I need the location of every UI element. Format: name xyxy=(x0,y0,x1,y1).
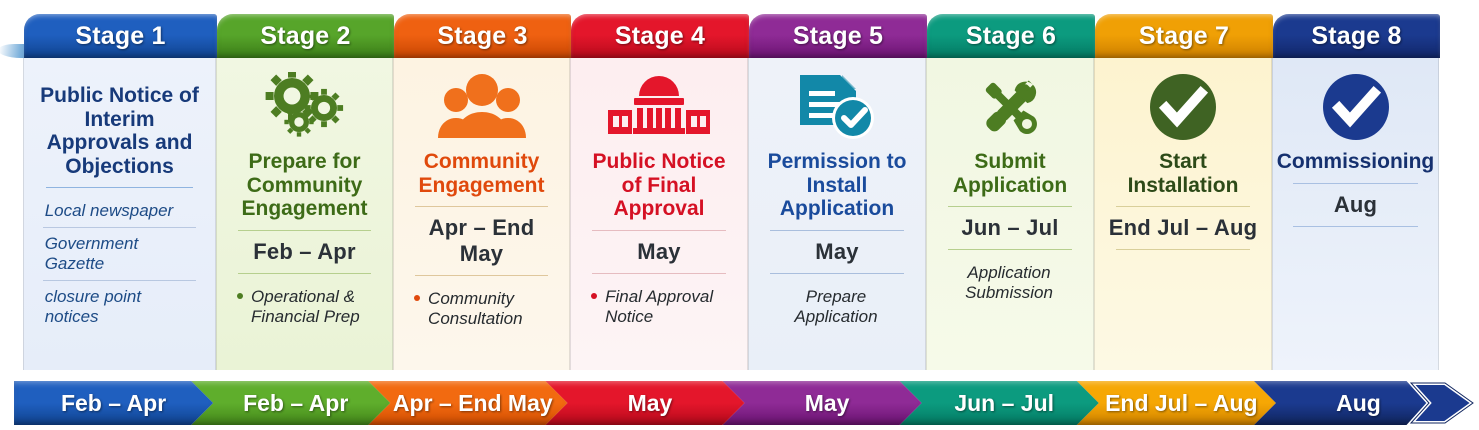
stage-tab-8[interactable]: Stage 8 xyxy=(1273,14,1440,58)
check-circle-icon xyxy=(1148,72,1218,142)
period-divider xyxy=(592,273,726,274)
timeline-chevron-7[interactable]: End Jul – Aug xyxy=(1077,381,1276,425)
stage-tab-6[interactable]: Stage 6 xyxy=(927,14,1095,58)
stage-panel-1[interactable]: Public Notice of Interim Approvals and O… xyxy=(23,58,216,370)
stage-panel-5[interactable]: Permission to Install ApplicationMayPrep… xyxy=(748,58,926,370)
stage-period: End Jul – Aug xyxy=(1109,215,1257,241)
period-divider xyxy=(1293,226,1417,227)
stage-tab-cell: Stage 4 xyxy=(571,14,749,58)
stage-tab-4[interactable]: Stage 4 xyxy=(571,14,749,58)
stage-tab-1[interactable]: Stage 1 xyxy=(24,14,217,58)
stage-panel-6[interactable]: Submit ApplicationJun – JulApplication S… xyxy=(926,58,1094,370)
stage-tab-cell: Stage 7 xyxy=(1095,14,1273,58)
timeline-chevron-label: End Jul – Aug xyxy=(1105,390,1258,417)
stage-note: Community Consultation xyxy=(412,283,551,335)
stage-panel-7[interactable]: Start InstallationEnd Jul – Aug xyxy=(1094,58,1272,370)
stage-panel-2[interactable]: Prepare for Community EngagementFeb – Ap… xyxy=(216,58,393,370)
timeline-chevron-5[interactable]: May xyxy=(723,381,922,425)
title-divider xyxy=(46,187,193,188)
stage-period: Apr – End May xyxy=(406,215,557,267)
timeline-chevron-3[interactable]: Apr – End May xyxy=(368,381,567,425)
stage-timeline-infographic: Stage 1Stage 2Stage 3Stage 4Stage 5Stage… xyxy=(0,0,1479,430)
stage-tab-cell: Stage 2 xyxy=(217,14,394,58)
stage-panel-4[interactable]: Public Notice of Final ApprovalMayFinal … xyxy=(570,58,748,370)
stage-panel-slot: Start InstallationEnd Jul – Aug xyxy=(1095,58,1273,370)
stage-tab-label: Stage 7 xyxy=(1139,22,1229,51)
stage-tab-cell: Stage 3 xyxy=(394,14,571,58)
timeline-chevron-label: May xyxy=(628,390,673,417)
stage-tab-7[interactable]: Stage 7 xyxy=(1095,14,1273,58)
stage-title: Submit Application xyxy=(939,150,1081,197)
gears-icon xyxy=(262,72,348,142)
timeline-chevron-bar: Feb – AprFeb – AprApr – End MayMayMayJun… xyxy=(0,381,1479,425)
timeline-arrow-tip-icon xyxy=(1405,381,1475,425)
title-divider xyxy=(1116,206,1250,207)
stage-panel-slot: Public Notice of Final ApprovalMayFinal … xyxy=(571,58,749,370)
stage-notes: Application Submission xyxy=(945,257,1076,309)
stage-notes: Final Approval Notice xyxy=(589,281,729,333)
stage-title: Prepare for Community Engagement xyxy=(229,150,380,221)
stage-icon-wrap xyxy=(970,70,1050,144)
title-divider xyxy=(948,206,1073,207)
timeline-chevron-label: Aug xyxy=(1336,390,1381,417)
title-divider xyxy=(415,206,548,207)
timeline-chevron-label: Feb – Apr xyxy=(243,390,348,417)
stage-panel-slot: Submit ApplicationJun – JulApplication S… xyxy=(927,58,1095,370)
stage-icon-wrap xyxy=(262,70,348,144)
stage-note: Final Approval Notice xyxy=(589,281,729,333)
stage-icon-wrap xyxy=(796,70,878,144)
stage-note: closure point notices xyxy=(43,280,197,333)
government-building-icon xyxy=(606,76,712,138)
stage-notes: Operational & Financial Prep xyxy=(235,281,374,333)
stage-tab-2[interactable]: Stage 2 xyxy=(217,14,394,58)
stage-tab-cell: Stage 1 xyxy=(0,14,217,58)
stage-panel-row: Public Notice of Interim Approvals and O… xyxy=(0,58,1479,370)
stage-panel-8[interactable]: CommissioningAug xyxy=(1272,58,1439,370)
period-divider xyxy=(770,273,904,274)
stage-note: Prepare Application xyxy=(767,281,907,333)
title-divider xyxy=(592,230,726,231)
stage-panel-3[interactable]: Community EngagementApr – End MayCommuni… xyxy=(393,58,570,370)
period-divider xyxy=(1116,249,1250,250)
timeline-chevron-4[interactable]: May xyxy=(545,381,744,425)
stage-title: Commissioning xyxy=(1277,150,1435,174)
period-divider xyxy=(415,275,548,276)
timeline-chevron-label: Jun – Jul xyxy=(954,390,1054,417)
timeline-chevron-1[interactable]: Feb – Apr xyxy=(14,381,213,425)
stage-title: Community Engagement xyxy=(406,150,557,197)
stage-tab-row: Stage 1Stage 2Stage 3Stage 4Stage 5Stage… xyxy=(0,14,1479,58)
stage-icon-wrap xyxy=(1148,70,1218,144)
title-divider xyxy=(770,230,904,231)
stage-title: Permission to Install Application xyxy=(761,150,913,221)
stage-tab-label: Stage 4 xyxy=(615,22,705,51)
stage-period: Feb – Apr xyxy=(253,239,355,265)
right-margin-spacer xyxy=(1439,58,1479,370)
stage-period: Jun – Jul xyxy=(961,215,1058,241)
timeline-chevron-label: Apr – End May xyxy=(393,390,553,417)
stage-notes: Prepare Application xyxy=(767,281,907,333)
left-margin-spacer xyxy=(0,58,24,370)
stage-tab-cell: Stage 8 xyxy=(1273,14,1440,58)
stage-panel-slot: CommissioningAug xyxy=(1273,58,1479,370)
stage-tab-label: Stage 2 xyxy=(260,22,350,51)
title-divider xyxy=(238,230,371,231)
people-group-icon xyxy=(436,74,528,140)
stage-tab-cell: Stage 5 xyxy=(749,14,927,58)
stage-notes: Community Consultation xyxy=(412,283,551,335)
stage-tab-label: Stage 3 xyxy=(437,22,527,51)
stage-note: Government Gazette xyxy=(43,227,197,280)
timeline-chevron-6[interactable]: Jun – Jul xyxy=(900,381,1099,425)
stage-panel-slot: Public Notice of Interim Approvals and O… xyxy=(0,58,217,370)
stage-panel-slot: Prepare for Community EngagementFeb – Ap… xyxy=(217,58,394,370)
stage-period: Aug xyxy=(1334,192,1377,218)
stage-note: Local newspaper xyxy=(43,195,197,227)
check-circle-icon xyxy=(1321,72,1391,142)
timeline-chevron-label: May xyxy=(805,390,850,417)
stage-tab-label: Stage 8 xyxy=(1311,22,1401,51)
document-check-icon xyxy=(796,71,878,143)
stage-tab-5[interactable]: Stage 5 xyxy=(749,14,927,58)
tools-icon xyxy=(970,71,1050,143)
timeline-chevron-label: Feb – Apr xyxy=(61,390,166,417)
stage-tab-3[interactable]: Stage 3 xyxy=(394,14,571,58)
stage-tab-label: Stage 5 xyxy=(793,22,883,51)
stage-title: Start Installation xyxy=(1107,150,1259,197)
stage-panel-slot: Community EngagementApr – End MayCommuni… xyxy=(394,58,571,370)
stage-tab-label: Stage 6 xyxy=(966,22,1056,51)
stage-icon-wrap xyxy=(436,70,528,144)
period-divider xyxy=(948,249,1073,250)
stage-title: Public Notice of Interim Approvals and O… xyxy=(36,84,203,178)
stage-title: Public Notice of Final Approval xyxy=(583,150,735,221)
stage-panel-slot: Permission to Install ApplicationMayPrep… xyxy=(749,58,927,370)
stage-note: Application Submission xyxy=(945,257,1076,309)
stage-note: Operational & Financial Prep xyxy=(235,281,374,333)
stage-tab-cell: Stage 6 xyxy=(927,14,1095,58)
stage-icon-wrap xyxy=(1321,70,1391,144)
stage-notes: Local newspaperGovernment Gazetteclosure… xyxy=(43,195,197,333)
stage-icon-wrap xyxy=(606,70,712,144)
period-divider xyxy=(238,273,371,274)
title-divider xyxy=(1293,183,1417,184)
stage-period: May xyxy=(637,239,680,265)
timeline-chevron-2[interactable]: Feb – Apr xyxy=(191,381,390,425)
stage-tab-label: Stage 1 xyxy=(75,22,165,51)
stage-period: May xyxy=(815,239,858,265)
